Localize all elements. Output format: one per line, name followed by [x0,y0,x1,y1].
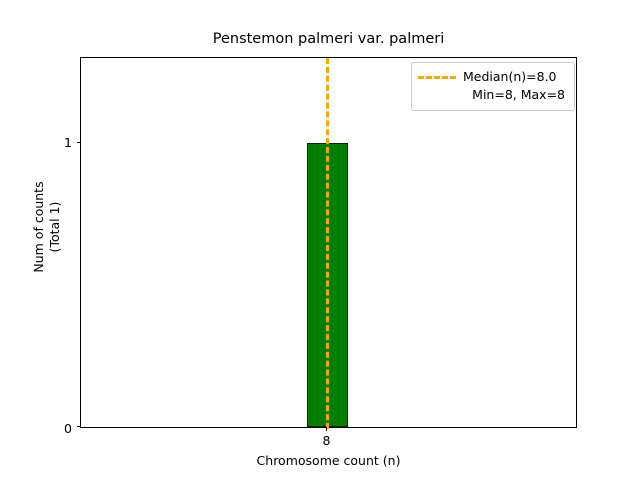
legend-label-minmax: Min=8, Max=8 [472,87,565,103]
chart-title: Penstemon palmeri var. palmeri [80,30,577,48]
y-axis-label-line-1: Num of counts [31,41,47,413]
ytick-mark-0 [77,426,81,427]
y-axis-label-line-2: (Total 1) [47,41,63,413]
xtick-label-8: 8 [306,433,347,448]
x-axis-label: Chromosome count (n) [80,453,577,468]
legend-entry-median: Median(n)=8.0 [418,68,566,86]
dashed-line-icon [418,76,456,79]
xtick-mark-8 [326,427,327,431]
legend-entry-minmax: Min=8, Max=8 [418,86,566,104]
legend-box: Median(n)=8.0 Min=8, Max=8 [411,62,575,111]
legend-label-median: Median(n)=8.0 [463,69,557,85]
ytick-label-1: 1 [56,135,72,150]
figure-canvas: Penstemon palmeri var. palmeri 1 0 8 Chr… [0,0,640,480]
ytick-label-0: 0 [56,421,72,436]
plot-area [80,57,577,428]
median-line [326,58,329,429]
y-axis-label: Num of counts (Total 1) [31,41,65,413]
ytick-mark-1 [77,142,81,143]
